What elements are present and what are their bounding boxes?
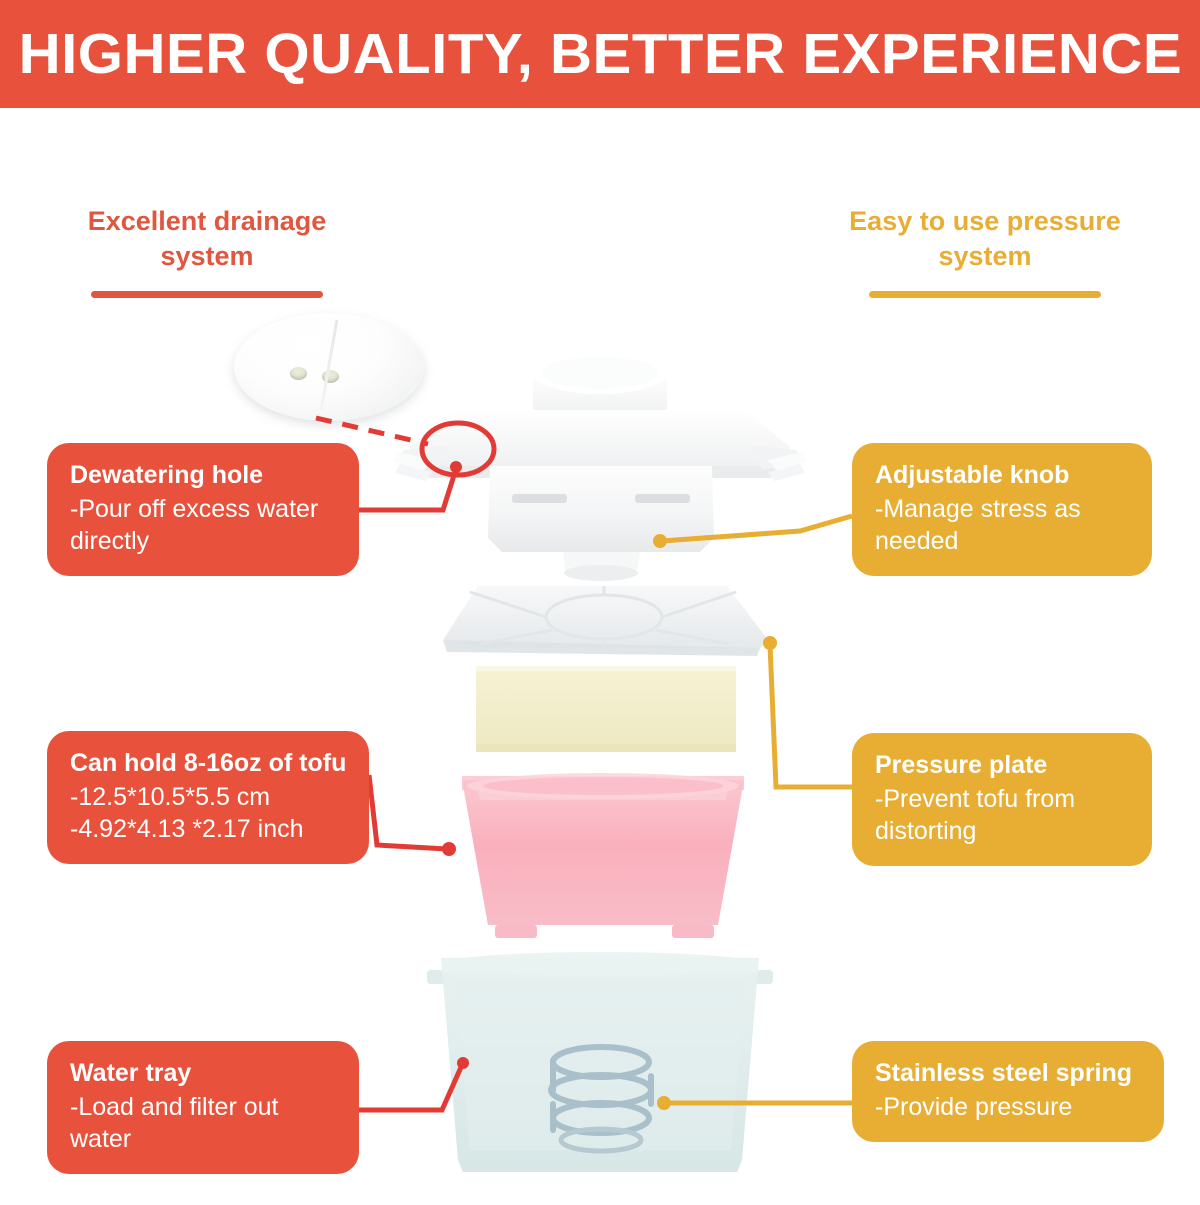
dewatering-hole-closeup [234,313,424,421]
section-heading-pressure: Easy to use pressure system [820,204,1150,298]
callout-line: -4.92*4.13 *2.17 inch [70,813,347,845]
callout-water-tray[interactable]: Water tray -Load and filter out water [47,1041,359,1174]
callout-adjustable-knob[interactable]: Adjustable knob -Manage stress as needed [852,443,1152,576]
heading-left-line2: system [42,239,372,274]
callout-title: Dewatering hole [70,460,337,490]
callout-pressure-plate[interactable]: Pressure plate -Prevent tofu from distor… [852,733,1152,866]
heading-left-line1: Excellent drainage [42,204,372,239]
callout-line: water [70,1123,337,1155]
callout-capacity[interactable]: Can hold 8-16oz of tofu -12.5*10.5*5.5 c… [47,731,369,864]
callout-line: -Load and filter out [70,1091,337,1123]
callout-title: Water tray [70,1058,337,1088]
drain-hole-icon [322,370,339,383]
callout-title: Stainless steel spring [875,1058,1142,1088]
callout-stainless-spring[interactable]: Stainless steel spring -Provide pressure [852,1041,1164,1142]
inner-basket-part [462,773,744,938]
callout-title: Pressure plate [875,750,1130,780]
water-tray-part [427,952,773,1172]
heading-underline-left [91,291,323,298]
callout-line: -Prevent tofu from [875,783,1130,815]
callout-line: directly [70,525,337,557]
callout-dewatering-hole[interactable]: Dewatering hole -Pour off excess water d… [47,443,359,576]
product-exploded-view [0,0,1200,1200]
callout-line: needed [875,525,1130,557]
product-illustration [0,0,1200,1200]
callout-title: Adjustable knob [875,460,1130,490]
callout-line: -Pour off excess water [70,493,337,525]
callout-title: Can hold 8-16oz of tofu [70,748,347,778]
callout-line: -Manage stress as [875,493,1130,525]
heading-right-line1: Easy to use pressure [820,204,1150,239]
section-heading-drainage: Excellent drainage system [42,204,372,298]
callout-line: -Provide pressure [875,1091,1142,1123]
callout-line: distorting [875,815,1130,847]
heading-underline-right [869,291,1101,298]
tofu-block-part [476,666,736,752]
pressure-plate-part [443,586,768,656]
lid-assembly [393,352,807,581]
callout-line: -12.5*10.5*5.5 cm [70,781,347,813]
drain-hole-icon [290,367,307,380]
heading-right-line2: system [820,239,1150,274]
